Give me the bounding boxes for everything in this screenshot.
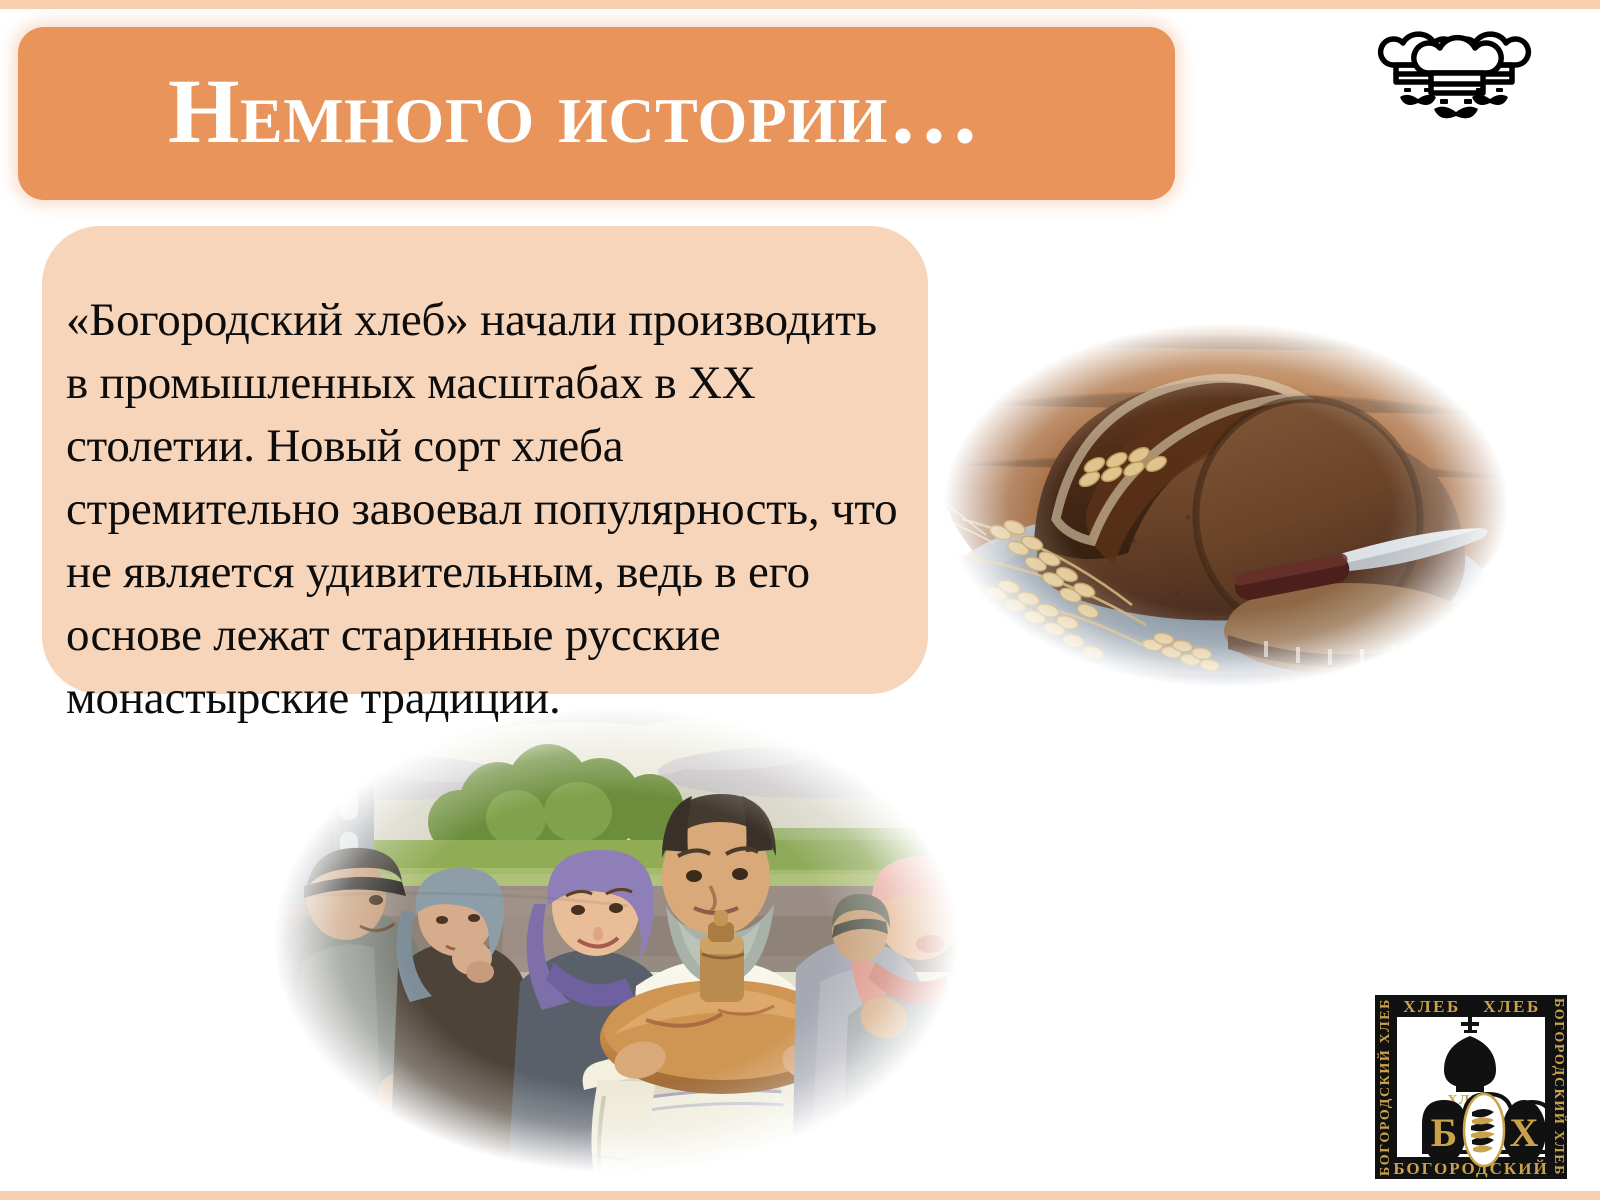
slide-canvas: Немного истории…	[0, 0, 1600, 1200]
page-title: Немного истории…	[168, 55, 1168, 167]
chef-hats-icon	[1374, 22, 1534, 122]
body-paragraph: «Богородский хлеб» начали производить в …	[66, 289, 906, 730]
logo-left-side-word: БОГОРОДСКИЙ ХЛЕБ	[1376, 998, 1393, 1176]
bread-photo	[916, 305, 1536, 705]
logo-letter-h: Х	[1510, 1110, 1539, 1155]
title-banner: Немного истории…	[18, 27, 1175, 200]
bottom-accent-strip	[0, 1191, 1600, 1200]
painting-image	[248, 700, 984, 1200]
brand-logo: ХЛЕБ ХЛЕБ БОГОРОДСКИЙ БОГОРОДСКИЙ ХЛЕБ Б…	[1372, 992, 1570, 1182]
body-text-card: «Богородский хлеб» начали производить в …	[42, 226, 928, 694]
top-accent-strip	[0, 0, 1600, 9]
logo-letter-b: Б	[1431, 1110, 1457, 1155]
logo-top-right-word: ХЛЕБ	[1483, 997, 1541, 1016]
logo-top-left-word: ХЛЕБ	[1403, 997, 1461, 1016]
